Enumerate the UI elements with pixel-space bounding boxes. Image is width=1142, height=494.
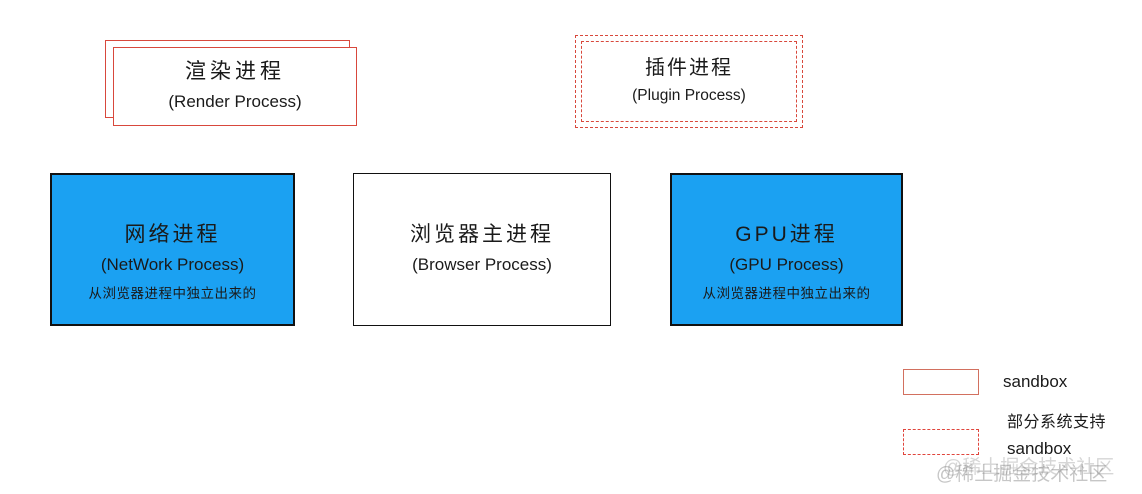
plugin-process-title-cn: 插件进程 bbox=[645, 56, 733, 81]
legend-sandbox-label: sandbox bbox=[1003, 372, 1067, 392]
watermark: @稀土掘金技术社区 bbox=[936, 459, 1107, 486]
browser-process-title-cn: 浏览器主进程 bbox=[410, 222, 554, 248]
process-box-plugin-process[interactable]: 插件进程 (Plugin Process) bbox=[581, 41, 797, 122]
network-process-note: 从浏览器进程中独立出来的 bbox=[52, 282, 293, 302]
process-box-network-process[interactable]: 网络进程 (NetWork Process) 从浏览器进程中独立出来的 bbox=[50, 173, 295, 326]
gpu-process-title-en: (GPU Process) bbox=[729, 253, 843, 277]
network-process-title-cn: 网络进程 bbox=[125, 222, 221, 248]
network-process-title-en: (NetWork Process) bbox=[101, 253, 244, 277]
process-box-render-process[interactable]: 渲染进程 (Render Process) bbox=[113, 47, 357, 126]
render-process-title-en: (Render Process) bbox=[168, 90, 301, 114]
gpu-process-note: 从浏览器进程中独立出来的 bbox=[672, 282, 901, 302]
legend-sandbox-swatch bbox=[903, 369, 979, 395]
process-box-gpu-process[interactable]: GPU进程 (GPU Process) 从浏览器进程中独立出来的 bbox=[670, 173, 903, 326]
render-process-title-cn: 渲染进程 bbox=[185, 59, 285, 85]
diagram-canvas: 渲染进程 (Render Process) 插件进程 (Plugin Proce… bbox=[0, 0, 1142, 494]
gpu-process-title-cn: GPU进程 bbox=[735, 222, 838, 248]
plugin-process-title-en: (Plugin Process) bbox=[632, 85, 746, 107]
process-box-browser-process[interactable]: 浏览器主进程 (Browser Process) bbox=[353, 173, 611, 326]
legend-partial-sandbox-label-cn: 部分系统支持 bbox=[1007, 414, 1106, 431]
browser-process-title-en: (Browser Process) bbox=[412, 253, 552, 277]
